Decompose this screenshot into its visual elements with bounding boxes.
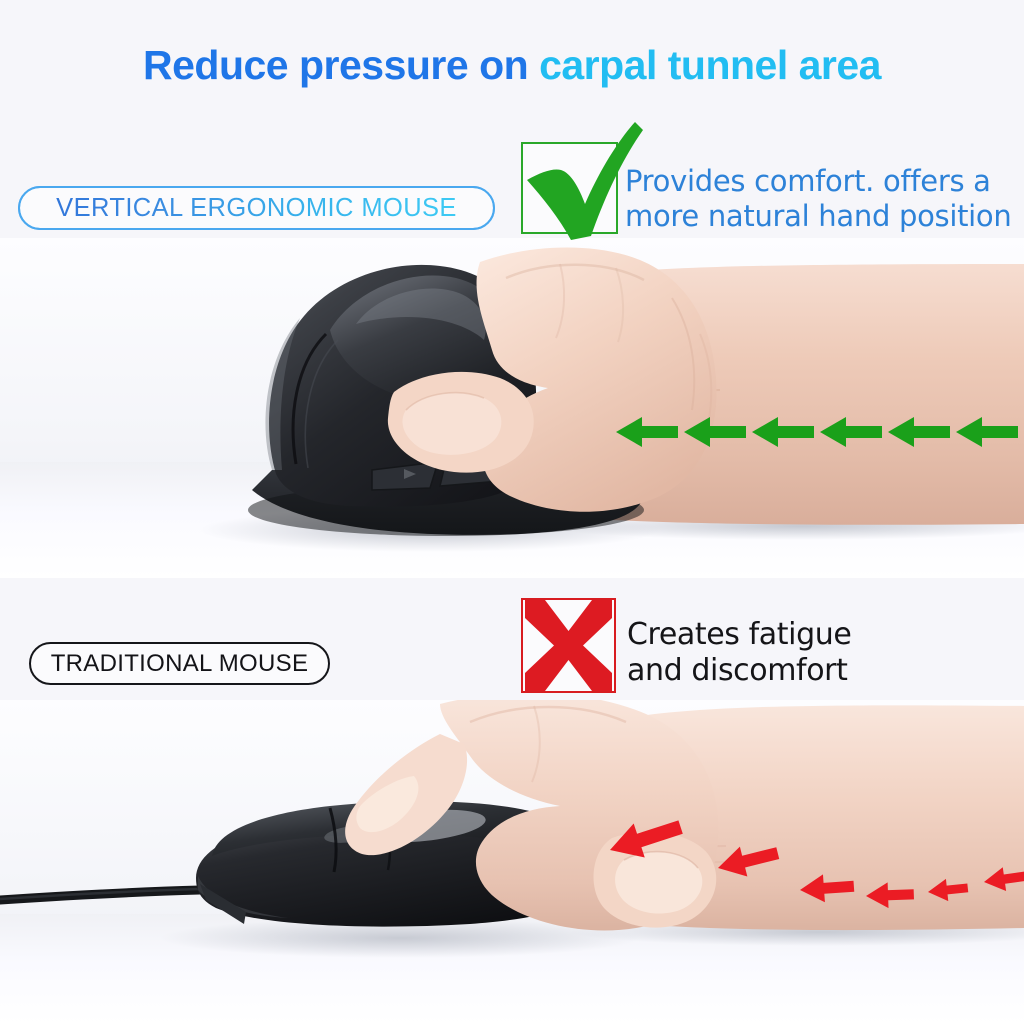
x-callout-line-2: and discomfort: [627, 653, 1007, 689]
red-x-icon: [521, 598, 616, 693]
page-title-part-2: carpal tunnel area: [539, 42, 881, 88]
green-pressure-arrows: [0, 238, 1024, 578]
vertical-mouse-badge[interactable]: VERTICAL ERGONOMIC MOUSE: [18, 186, 495, 230]
x-callout-text: Creates fatigue and discomfort: [627, 617, 1007, 689]
page-title: Reduce pressure on carpal tunnel area: [0, 42, 1024, 89]
check-box-outline: [521, 142, 618, 234]
infographic-root: Reduce pressure on carpal tunnel area: [0, 0, 1024, 1024]
check-callout-line-1: Provides comfort. offers a: [625, 164, 1024, 199]
check-callout-line-2: more natural hand position: [625, 199, 1024, 234]
page-title-part-1: Reduce pressure on: [143, 42, 539, 88]
check-callout-text: Provides comfort. offers a more natural …: [625, 164, 1024, 234]
red-pressure-arrows: [0, 700, 1024, 1024]
vertical-mouse-photo: [0, 238, 1024, 578]
traditional-mouse-badge[interactable]: TRADITIONAL MOUSE: [29, 642, 330, 685]
traditional-mouse-photo: [0, 700, 1024, 1024]
x-callout-line-1: Creates fatigue: [627, 617, 1007, 653]
